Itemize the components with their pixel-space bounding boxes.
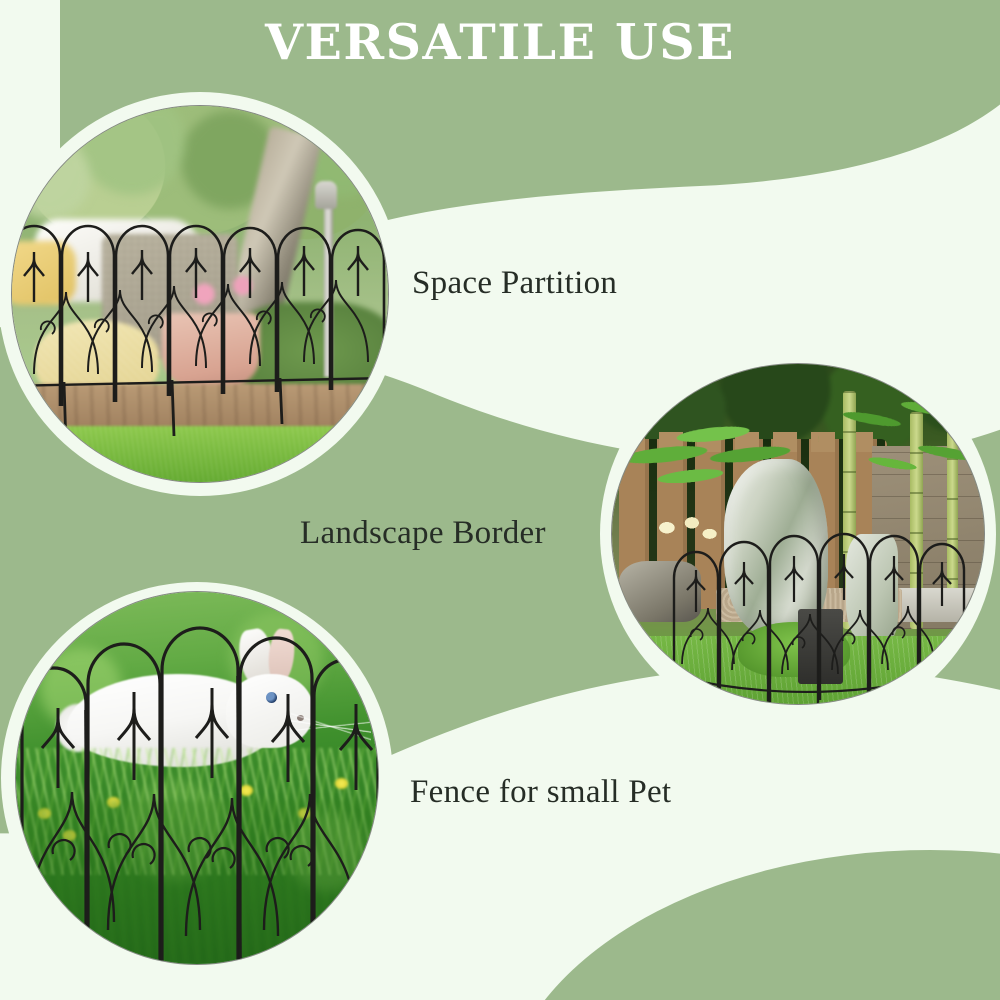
patio-garden-fence-photo <box>12 106 388 482</box>
decorative-fence-overlay <box>612 364 984 704</box>
caption-fence-for-small-pet: Fence for small Pet <box>410 774 671 811</box>
bottom-right-shape <box>500 850 1000 1000</box>
caption-landscape-border: Landscape Border <box>300 515 546 552</box>
infographic-stage: VERSATILE USE <box>0 0 1000 1000</box>
rabbit-grass-fence-photo <box>16 592 378 964</box>
decorative-fence-overlay <box>12 106 388 482</box>
decorative-fence-overlay <box>16 592 378 964</box>
rockery-garden-fence-photo <box>612 364 984 704</box>
page-title: VERSATILE USE <box>0 18 1000 67</box>
caption-space-partition: Space Partition <box>412 265 617 302</box>
